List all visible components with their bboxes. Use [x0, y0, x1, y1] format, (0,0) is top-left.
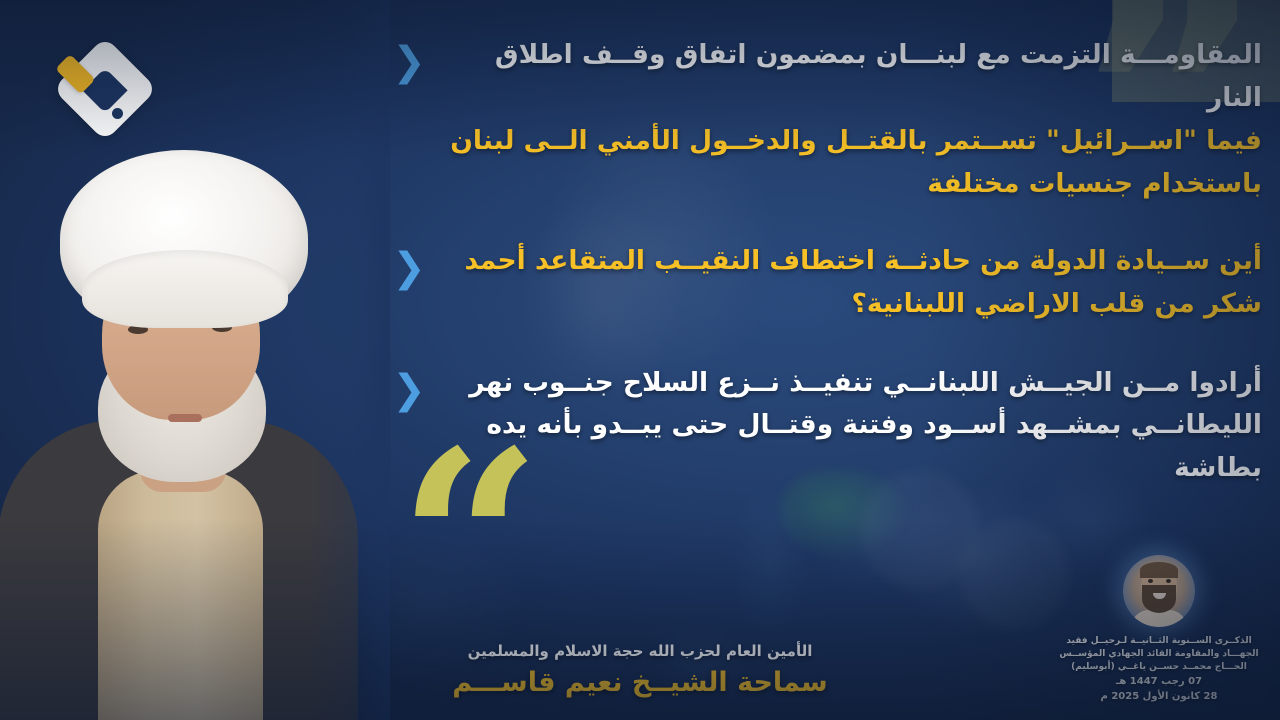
vignette-overlay: [0, 0, 1280, 720]
quote-card: ” “ المقاومـــة التزمت مع لبنـــان بمضمو…: [0, 0, 1280, 720]
